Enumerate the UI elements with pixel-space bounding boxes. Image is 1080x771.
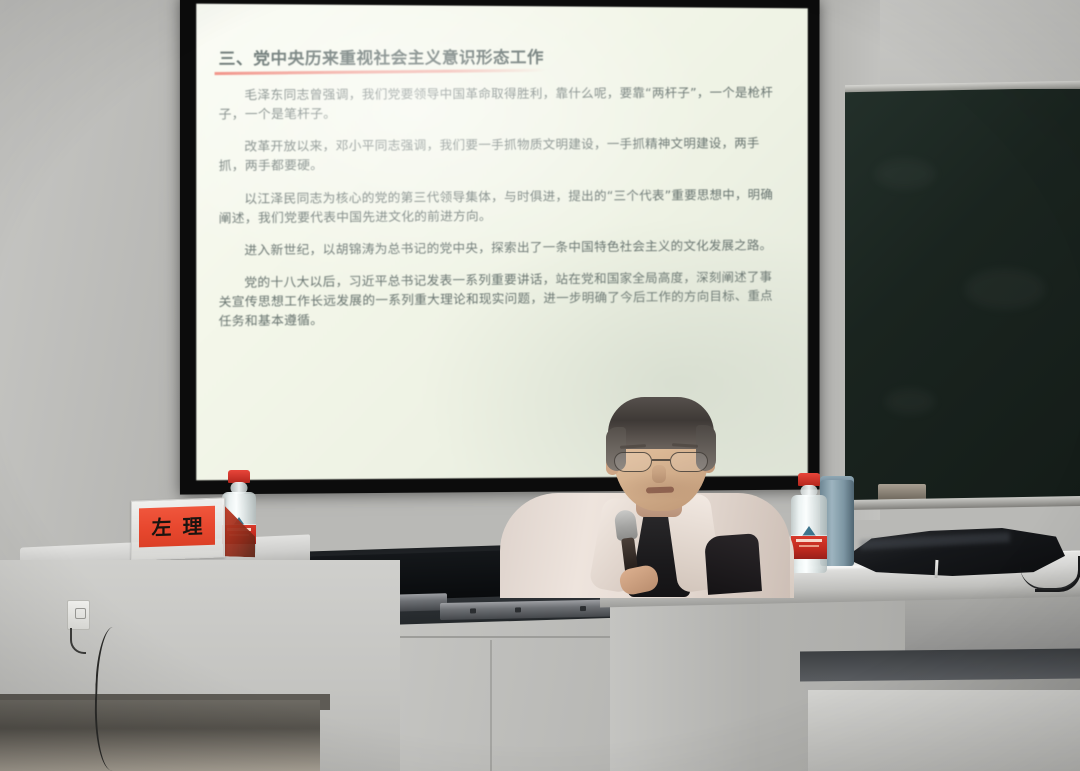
speaker-nose	[652, 465, 666, 483]
slide-paragraph-3: 以江泽民同志为核心的党的第三代领导集体，与时俱进，提出的“三个代表”重要思想中，…	[219, 184, 785, 227]
microphone-head	[614, 509, 638, 541]
blackboard	[845, 86, 1080, 504]
slide-paragraph-4: 进入新世纪，以胡锦涛为总书记的党中央，探索出了一条中国特色社会主义的文化发展之路…	[219, 235, 785, 260]
podium-right-lower-panel	[808, 690, 1080, 771]
wall-power-outlet	[67, 600, 90, 630]
slide-paragraph-5: 党的十八大以后，习近平总书记发表一系列重要讲话，站在党和国家全局高度，深刻阐述了…	[219, 267, 785, 331]
eyeglass-lens-left	[614, 452, 652, 472]
speaker-right-sleeve-dark	[704, 533, 762, 595]
podium-right-body-light	[610, 596, 760, 771]
slide-title: 三、党中央历来重视社会主义意识形态工作	[219, 43, 785, 70]
speaker-figure	[500, 395, 800, 595]
eyeglass-bridge	[652, 459, 670, 461]
placard-acrylic-holder: 左 理	[131, 497, 225, 560]
eyeglass-lens-right	[670, 452, 708, 472]
slide-title-underline	[215, 69, 547, 75]
speaker-mouth	[646, 487, 674, 494]
lecture-hall-photo: 三、党中央历来重视社会主义意识形态工作 毛泽东同志曾强调，我们党要领导中国革命取…	[0, 0, 1080, 771]
name-placard: 左 理	[131, 497, 225, 560]
placard-char-1: 左	[152, 517, 172, 538]
slide-paragraph-1: 毛泽东同志曾强调，我们党要领导中国革命取得胜利，靠什么呢，要靠“两杆子”，一个是…	[219, 83, 785, 124]
placard-char-2: 理	[183, 516, 203, 537]
floor	[0, 700, 320, 771]
placard-card: 左 理	[139, 506, 215, 548]
floor-power-cable	[92, 626, 137, 771]
slide-paragraph-2: 改革开放以来，邓小平同志强调，我们要一手抓物质文明建设，一手抓精神文明建设，两手…	[219, 134, 785, 176]
podium-right-side-face	[905, 595, 1080, 657]
podium-panel-seam-2	[490, 640, 492, 771]
podium-right-slot	[800, 649, 1080, 682]
